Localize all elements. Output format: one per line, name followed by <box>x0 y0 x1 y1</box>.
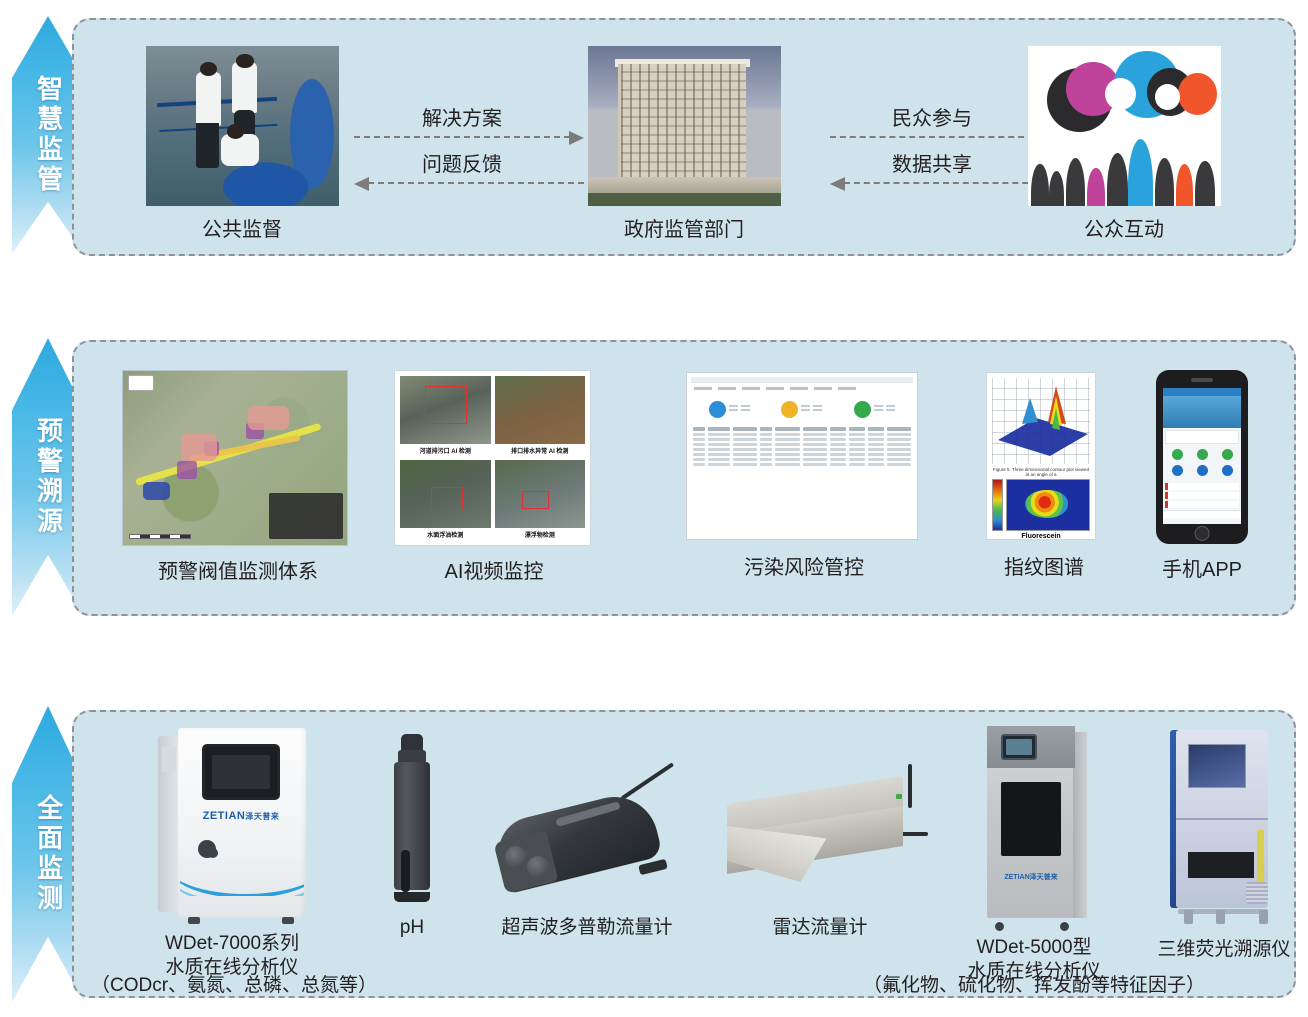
ai-video-cell: 漂浮物检测 <box>495 460 586 540</box>
contour-plot-3d <box>992 378 1090 464</box>
colorbar <box>992 479 1003 531</box>
tile-caption: AI视频监控 <box>394 560 594 585</box>
flow-forward-line <box>354 136 570 138</box>
instrument-ultrasonic-flowmeter: 超声波多普勒流量计 <box>474 762 700 940</box>
tile-pollution-risk-control: 污染风险管控 <box>686 372 922 581</box>
ai-thumb <box>495 376 586 444</box>
brand-text-cn: 泽天普来 <box>245 812 279 821</box>
surface-plot-svg <box>992 378 1092 464</box>
fluorescence-spectrum-figure: Figure 5. Three dimensional contour plot… <box>986 372 1096 540</box>
infographic-root: 智慧监管 公共监督 解决方案 问题反馈 <box>0 0 1308 1017</box>
figure-caption: Figure 5. Three dimensional contour plot… <box>992 464 1090 479</box>
tile-caption: 指纹图谱 <box>986 556 1102 581</box>
node-public-supervision: 公共监督 <box>142 46 342 243</box>
device-knob <box>198 840 216 858</box>
map-scalebar <box>129 534 191 539</box>
public-interaction-graphic <box>1028 46 1221 206</box>
ai-thumb <box>495 460 586 528</box>
satellite-map-thumbnail <box>122 370 348 546</box>
status-ring-blue <box>709 401 726 418</box>
ai-video-cell: 水面浮油检测 <box>400 460 491 540</box>
brand-logo: ZETIAN泽天普来 <box>198 810 284 822</box>
flow-public-to-gov: 解决方案 问题反馈 <box>354 106 570 186</box>
banner-label: 智慧监管 <box>34 75 61 195</box>
banner-label: 全面监测 <box>34 794 61 914</box>
tile-caption: 污染风险管控 <box>686 556 922 581</box>
flow-forward-label: 解决方案 <box>422 102 502 131</box>
flow-backward-label: 问题反馈 <box>422 148 502 177</box>
wdet7000-cabinet-analyzer: ZETIAN泽天普来 <box>158 728 306 918</box>
government-building-photo <box>588 46 781 206</box>
instrument-sublabel-wdet5000: （氟化物、硫化物、挥发酚等特征因子） <box>814 974 1254 998</box>
decorative-wave <box>180 866 304 896</box>
instrument-label-line1: 超声波多普勒流量计 <box>474 916 700 940</box>
smartphone-app-mockup <box>1156 370 1248 544</box>
3d-fluorescence-tracer <box>1166 726 1282 926</box>
status-ring-green <box>854 401 871 418</box>
figure-label: Fluorescein <box>992 531 1090 540</box>
flow-backward-label: 数据共享 <box>892 148 972 177</box>
device-door-panel <box>1001 782 1061 856</box>
inspection-boat-photo <box>146 46 339 206</box>
compass-icon <box>128 375 154 391</box>
ai-video-grid: 河道排污口 AI 检测 排口排水异常 AI 检测 水面浮油检测 漂浮物检测 <box>394 370 591 546</box>
instrument-sublabel-wdet7000: （CODcr、氨氮、总磷、总氮等） <box>14 974 454 998</box>
node-government-department: 政府监管部门 <box>564 46 804 243</box>
ai-video-cell: 排口排水异常 AI 检测 <box>495 376 586 456</box>
ai-thumb <box>400 460 491 528</box>
device-touchscreen <box>1188 744 1246 788</box>
instrument-label-line1: 雷达流量计 <box>700 916 940 940</box>
node-caption: 公众互动 <box>1004 218 1244 243</box>
instrument-label-line1: 三维荧光溯源仪 <box>1144 938 1304 962</box>
flow-backward-line <box>368 182 584 184</box>
brand-text-cn: 泽天普来 <box>1030 874 1058 881</box>
device-window <box>1188 852 1254 878</box>
tile-fingerprint-spectrum: Figure 5. Three dimensional contour plot… <box>986 372 1102 581</box>
brand-text: ZETIAN <box>203 810 246 822</box>
map-legend <box>269 493 343 539</box>
arrow-left-icon <box>354 177 369 191</box>
ai-video-cell: 河道排污口 AI 检测 <box>400 376 491 456</box>
device-touchscreen <box>1001 734 1037 760</box>
flow-forward-label: 民众参与 <box>892 102 972 131</box>
brand-logo: ZETIAN泽天普来 <box>989 872 1073 882</box>
tile-caption: 手机APP <box>1142 558 1262 583</box>
ai-sub-caption: 排口排水异常 AI 检测 <box>495 444 586 456</box>
phone-speaker <box>1191 378 1213 382</box>
ph-probe-sensor <box>392 734 432 902</box>
contour-heatmap <box>1006 479 1090 531</box>
panel-early-warning: 预警阀值监测体系 河道排污口 AI 检测 排口排水异常 AI 检测 水面浮油 <box>72 340 1296 616</box>
wdet5000-cabinet-analyzer: ZETIAN泽天普来 <box>979 726 1089 926</box>
instrument-3d-fluorescence: 三维荧光溯源仪 <box>1144 726 1304 962</box>
ai-sub-caption: 漂浮物检测 <box>495 528 586 540</box>
ai-thumb <box>400 376 491 444</box>
arrow-left-icon <box>830 177 845 191</box>
instrument-label-line1: pH <box>364 916 460 940</box>
panel-comprehensive-monitoring: ZETIAN泽天普来 WDet-7000系列 水质在线分析仪 （CODcr、氨氮… <box>72 710 1296 998</box>
panel-smart-supervision: 公共监督 解决方案 问题反馈 政府监管部门 <box>72 18 1296 256</box>
instrument-wdet7000: ZETIAN泽天普来 WDet-7000系列 水质在线分析仪 <box>134 728 330 980</box>
node-caption: 政府监管部门 <box>564 218 804 243</box>
ai-sub-caption: 河道排污口 AI 检测 <box>400 444 491 456</box>
device-touchscreen <box>202 744 280 800</box>
instrument-radar-flowmeter: 雷达流量计 <box>700 764 940 940</box>
risk-dashboard-screenshot <box>686 372 918 540</box>
ai-sub-caption: 水面浮油检测 <box>400 528 491 540</box>
ultrasonic-doppler-flowmeter <box>493 762 681 894</box>
brand-text: ZETIAN <box>1004 874 1029 881</box>
tile-mobile-app: 手机APP <box>1142 370 1262 583</box>
risk-table <box>691 426 913 467</box>
node-public-interaction: 公众互动 <box>1004 46 1244 243</box>
instrument-wdet5000: ZETIAN泽天普来 WDet-5000型 水质在线分析仪 <box>934 726 1134 984</box>
tile-threshold-monitoring: 预警阀值监测体系 <box>122 370 354 585</box>
tile-caption: 预警阀值监测体系 <box>122 560 354 585</box>
instrument-label-line1: WDet-5000型 <box>934 936 1134 960</box>
node-caption: 公共监督 <box>142 218 342 243</box>
heatmap-panel <box>992 479 1090 531</box>
instrument-ph-probe: pH <box>364 734 460 940</box>
radar-flowmeter <box>713 764 928 894</box>
instrument-label-line1: WDet-7000系列 <box>134 932 330 956</box>
phone-screen <box>1163 388 1241 524</box>
tile-ai-video-monitoring: 河道排污口 AI 检测 排口排水异常 AI 检测 水面浮油检测 漂浮物检测 <box>394 370 594 585</box>
phone-home-button <box>1195 526 1210 541</box>
status-ring-yellow <box>781 401 798 418</box>
banner-label: 预警溯源 <box>34 417 61 537</box>
